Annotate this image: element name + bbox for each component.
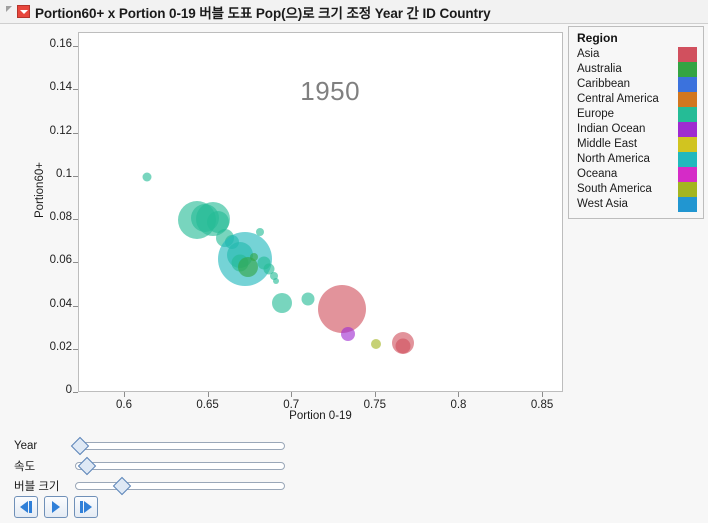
- slider-track[interactable]: [75, 482, 285, 490]
- legend-item-label: Australia: [577, 62, 622, 77]
- legend-item[interactable]: West Asia: [577, 197, 697, 212]
- step-backward-icon: [20, 501, 32, 513]
- legend-item[interactable]: Europe: [577, 107, 697, 122]
- legend-item-label: Oceana: [577, 167, 617, 182]
- slider-track[interactable]: [75, 442, 285, 450]
- x-tick-mark: [124, 392, 125, 397]
- legend-color-swatch[interactable]: [678, 47, 697, 62]
- x-tick-mark: [458, 392, 459, 397]
- y-tick-label: 0.06: [20, 254, 72, 266]
- legend-item-label: Caribbean: [577, 77, 630, 92]
- legend-item-label: Central America: [577, 92, 659, 107]
- bubble-point[interactable]: [250, 253, 258, 261]
- slider-year[interactable]: Year: [14, 436, 37, 456]
- legend-item[interactable]: Caribbean: [577, 77, 697, 92]
- legend-color-swatch[interactable]: [678, 62, 697, 77]
- bubble-point[interactable]: [142, 172, 151, 181]
- slider-track-container[interactable]: [75, 436, 285, 456]
- y-tick-mark: [73, 133, 78, 134]
- y-tick-label: 0.12: [20, 125, 72, 137]
- legend-item-label: Asia: [577, 47, 599, 62]
- bubble-plot-window: Portion60+ x Portion 0-19 버블 도표 Pop(으)로 …: [0, 0, 708, 523]
- y-tick-mark: [73, 349, 78, 350]
- bubble-point[interactable]: [273, 278, 279, 284]
- legend-item-label: West Asia: [577, 197, 628, 212]
- legend-item-label: North America: [577, 152, 650, 167]
- legend-panel: Region AsiaAustraliaCaribbeanCentral Ame…: [568, 26, 704, 219]
- y-tick-label: 0.08: [20, 211, 72, 223]
- legend-color-swatch[interactable]: [678, 107, 697, 122]
- chevron-down-icon: [20, 10, 28, 14]
- legend-color-swatch[interactable]: [678, 92, 697, 107]
- bubble-point[interactable]: [256, 228, 264, 236]
- y-tick-label: 0.16: [20, 38, 72, 50]
- y-tick-mark: [73, 262, 78, 263]
- legend-title: Region: [577, 31, 697, 45]
- animation-controls: Year속도버블 크기: [0, 428, 708, 523]
- slider-bubblesize[interactable]: 버블 크기: [14, 476, 60, 496]
- legend-color-swatch[interactable]: [678, 167, 697, 182]
- legend-item[interactable]: Middle East: [577, 137, 697, 152]
- x-tick-mark: [291, 392, 292, 397]
- legend-item[interactable]: South America: [577, 182, 697, 197]
- step-forward-button[interactable]: [74, 496, 98, 518]
- legend-color-swatch[interactable]: [678, 137, 697, 152]
- legend-item-label: Middle East: [577, 137, 637, 152]
- x-tick-mark: [208, 392, 209, 397]
- triangle-collapse-icon[interactable]: [4, 5, 17, 19]
- y-axis-title: Portion60+: [34, 145, 46, 235]
- legend-item[interactable]: Central America: [577, 92, 697, 107]
- slider-track-container[interactable]: [75, 476, 285, 496]
- slider-label: 버블 크기: [14, 478, 60, 494]
- bubble-point[interactable]: [302, 292, 315, 305]
- x-tick-mark: [542, 392, 543, 397]
- red-dropdown-icon[interactable]: [17, 5, 30, 18]
- legend-items[interactable]: AsiaAustraliaCaribbeanCentral AmericaEur…: [577, 47, 697, 212]
- x-axis-title: Portion 0-19: [78, 410, 563, 422]
- step-forward-icon: [80, 501, 92, 513]
- y-tick-label: 0.02: [20, 341, 72, 353]
- legend-item[interactable]: Oceana: [577, 167, 697, 182]
- slider-track-container[interactable]: [75, 456, 285, 476]
- year-annotation: 1950: [300, 76, 360, 107]
- y-tick-label: 0.1: [20, 168, 72, 180]
- bubble-point[interactable]: [318, 285, 366, 333]
- slider-thumb[interactable]: [71, 437, 89, 455]
- y-tick-label: 0.04: [20, 298, 72, 310]
- plot-frame[interactable]: 1950: [78, 32, 563, 392]
- y-tick-mark: [73, 392, 78, 393]
- page-title: Portion60+ x Portion 0-19 버블 도표 Pop(으)로 …: [35, 2, 491, 22]
- y-tick-label: 0.14: [20, 81, 72, 93]
- y-tick-mark: [73, 219, 78, 220]
- legend-item[interactable]: North America: [577, 152, 697, 167]
- legend-color-swatch[interactable]: [678, 122, 697, 137]
- legend-item-label: Indian Ocean: [577, 122, 645, 137]
- bubble-point[interactable]: [272, 293, 292, 313]
- legend-color-swatch[interactable]: [678, 197, 697, 212]
- legend-color-swatch[interactable]: [678, 182, 697, 197]
- legend-color-swatch[interactable]: [678, 77, 697, 92]
- slider-label: 속도: [14, 458, 35, 474]
- legend-item-label: Europe: [577, 107, 614, 122]
- y-tick-label: 0: [20, 384, 72, 396]
- legend-item[interactable]: Indian Ocean: [577, 122, 697, 137]
- bubble-point[interactable]: [341, 327, 355, 341]
- slider-track[interactable]: [75, 462, 285, 470]
- slider-speed[interactable]: 속도: [14, 456, 35, 476]
- legend-item[interactable]: Asia: [577, 47, 697, 62]
- legend-item-label: South America: [577, 182, 652, 197]
- slider-label: Year: [14, 440, 37, 452]
- legend-color-swatch[interactable]: [678, 152, 697, 167]
- y-tick-mark: [73, 89, 78, 90]
- slider-thumb[interactable]: [113, 477, 131, 495]
- plot-container: 1950 00.020.040.060.080.10.120.140.16 0.…: [0, 24, 708, 428]
- legend-item[interactable]: Australia: [577, 62, 697, 77]
- bubble-point[interactable]: [371, 339, 381, 349]
- step-back-button[interactable]: [14, 496, 38, 518]
- y-tick-mark: [73, 46, 78, 47]
- y-tick-mark: [73, 306, 78, 307]
- window-title-bar: Portion60+ x Portion 0-19 버블 도표 Pop(으)로 …: [0, 0, 708, 24]
- x-tick-mark: [375, 392, 376, 397]
- play-button[interactable]: [44, 496, 68, 518]
- y-tick-mark: [73, 176, 78, 177]
- slider-thumb[interactable]: [77, 457, 95, 475]
- playback-buttons[interactable]: [14, 496, 98, 518]
- bubble-point[interactable]: [396, 338, 411, 353]
- play-icon: [52, 501, 60, 513]
